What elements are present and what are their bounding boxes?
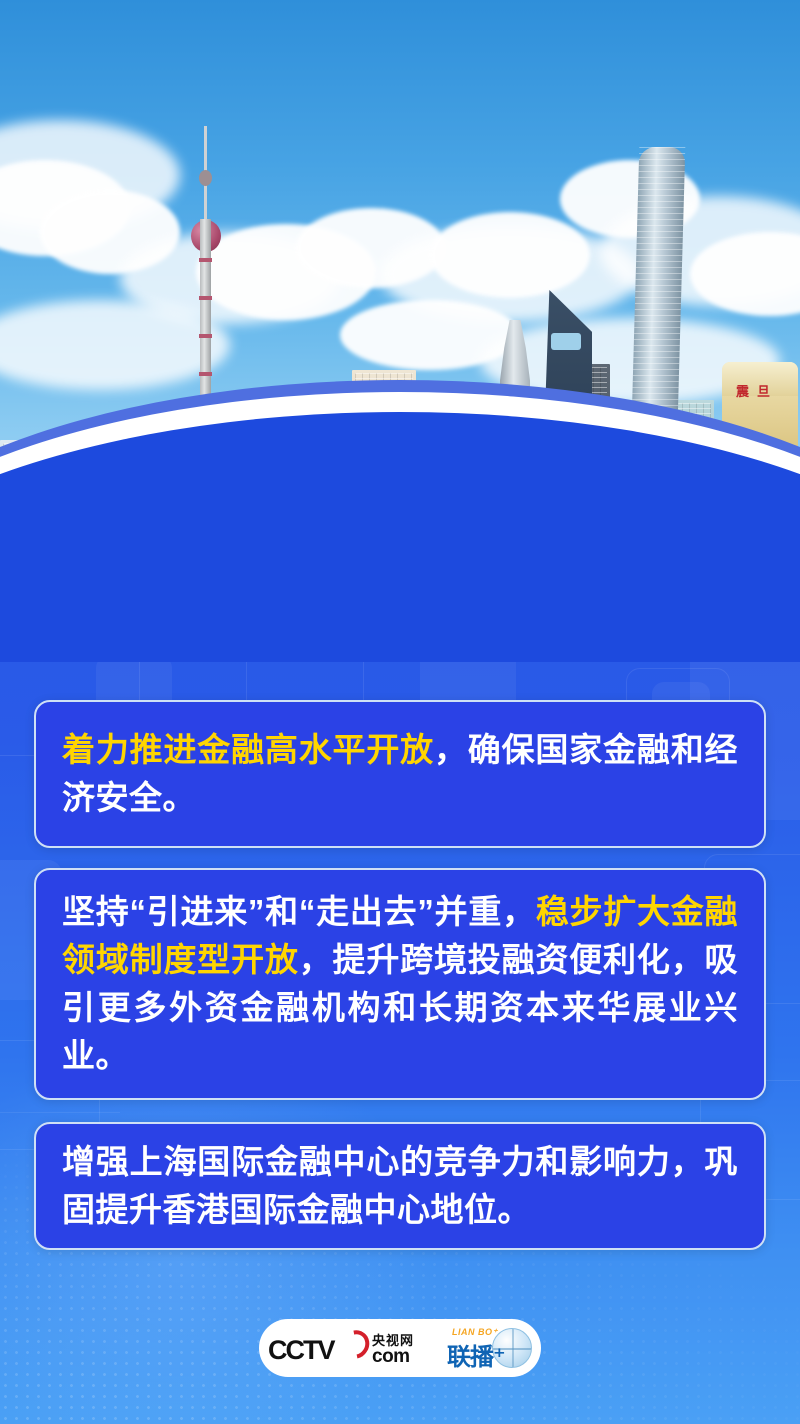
card2-text: 坚持“引进来”和“走出去”并重，稳步扩大金融领域制度型开放，提升跨境投融资便利化… [36,888,764,1080]
cctv-logo[interactable]: CCTV 央视网 com [268,1328,432,1368]
lianbo-chinese: 联播⁺ [447,1337,505,1372]
statement-card-financial-opening[interactable]: 着力推进金融高水平开放，确保国家金融和经济安全。 [34,700,766,848]
card1-text: 着力推进金融高水平开放，确保国家金融和经济安全。 [36,726,764,822]
card3-body: 增强上海国际金融中心的竞争力和影响力，巩固提升香港国际金融中心地位。 [62,1143,738,1228]
statement-card-bring-in-go-out[interactable]: 坚持“引进来”和“走出去”并重，稳步扩大金融领域制度型开放，提升跨境投融资便利化… [34,868,766,1100]
cctv-swoosh-icon [336,1325,375,1364]
card2-lead: 坚持“引进来”和“走出去”并重， [62,893,536,930]
lianbo-logo[interactable]: LIAN BO⁺ 联播⁺ [446,1327,532,1369]
cctv-letters: CCTV [268,1335,334,1366]
card3-text: 增强上海国际金融中心的竞争力和影响力，巩固提升香港国际金融中心地位。 [36,1138,764,1234]
poster-root: 浦东 震旦 [0,0,800,1424]
cctv-com-text: com [372,1346,410,1368]
statement-card-shanghai-hongkong[interactable]: 增强上海国际金融中心的竞争力和影响力，巩固提升香港国际金融中心地位。 [34,1122,766,1250]
footer-logo-bar[interactable]: CCTV 央视网 com LIAN BO⁺ 联播⁺ [259,1319,541,1377]
statement-cards: 着力推进金融高水平开放，确保国家金融和经济安全。 坚持“引进来”和“走出去”并重… [0,0,800,1424]
card1-highlight: 着力推进金融高水平开放 [62,731,434,768]
